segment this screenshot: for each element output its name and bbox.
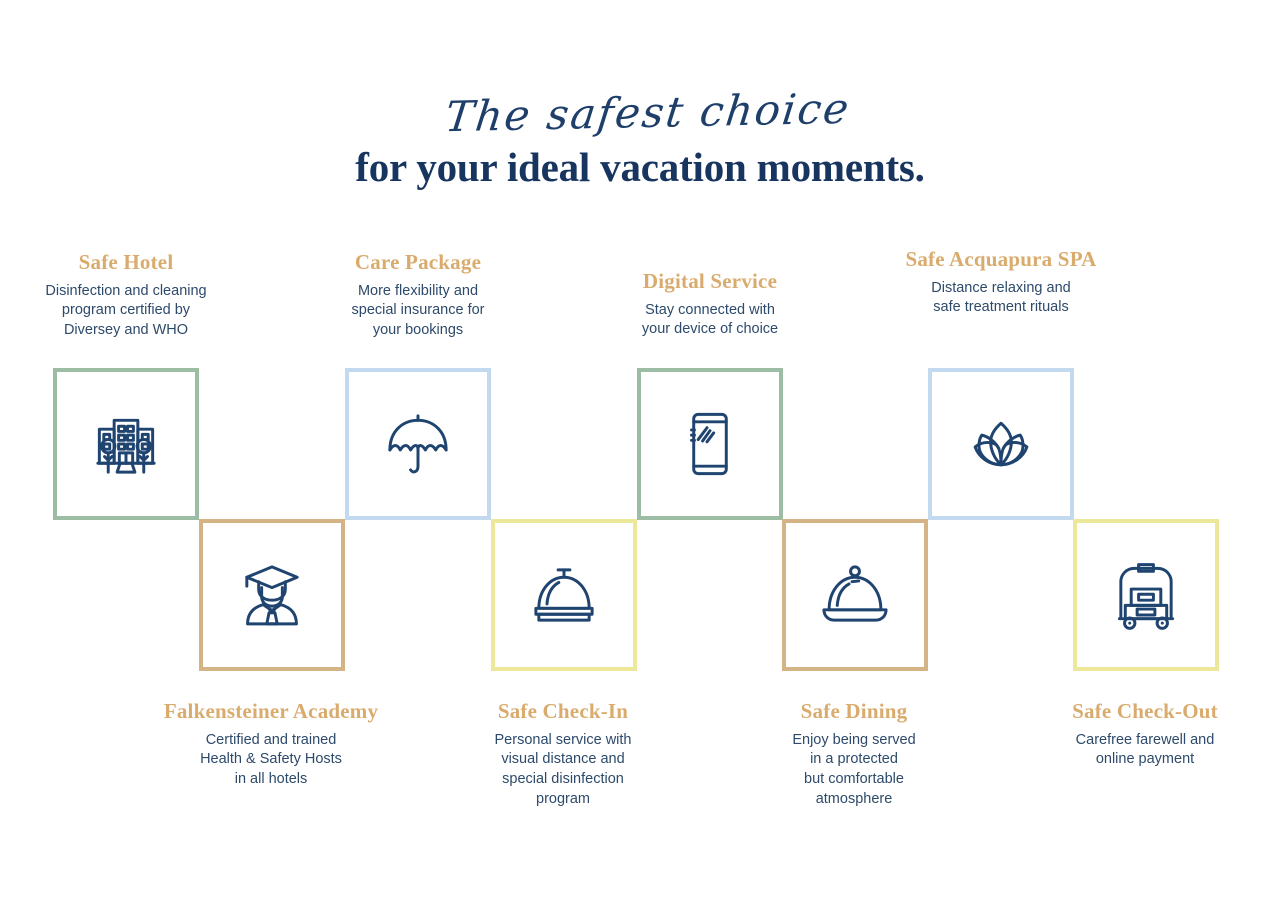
icon-box-safe-check-out: [1073, 519, 1219, 671]
card-heading: Care Package: [297, 250, 539, 275]
card-text-care-package: Care Package More flexibility and specia…: [297, 250, 539, 341]
luggage-cart-icon: [1109, 558, 1183, 632]
icon-box-care-package: [345, 368, 491, 520]
card-text-safe-acquapura-spa: Safe Acquapura SPA Distance relaxing and…: [880, 247, 1122, 318]
hotel-building-icon: [89, 407, 163, 481]
umbrella-icon: [381, 407, 455, 481]
card-description: Distance relaxing and safe treatment rit…: [880, 279, 1122, 318]
icon-box-safe-hotel: [53, 368, 199, 520]
food-cloche-icon: [818, 558, 892, 632]
card-text-digital-service: Digital Service Stay connected with your…: [589, 269, 831, 340]
card-heading: Safe Acquapura SPA: [880, 247, 1122, 272]
smartphone-sparkle-icon: [673, 407, 747, 481]
icon-box-falkensteiner-academy: [199, 519, 345, 671]
card-text-safe-check-out: Safe Check-Out Carefree farewell and onl…: [1024, 699, 1266, 770]
icon-box-digital-service: [637, 368, 783, 520]
card-text-safe-hotel: Safe Hotel Disinfection and cleaning pro…: [5, 250, 247, 341]
card-heading: Safe Dining: [733, 699, 975, 724]
card-heading: Safe Check-In: [442, 699, 684, 724]
title-serif-line: for your ideal vacation moments.: [0, 146, 1280, 189]
card-description: More flexibility and special insurance f…: [297, 282, 539, 341]
icon-box-safe-check-in: [491, 519, 637, 671]
card-heading: Safe Hotel: [5, 250, 247, 275]
reception-bell-icon: [527, 558, 601, 632]
card-description: Certified and trained Health & Safety Ho…: [150, 731, 392, 790]
lotus-flower-icon: [964, 407, 1038, 481]
card-heading: Safe Check-Out: [1024, 699, 1266, 724]
card-description: Carefree farewell and online payment: [1024, 731, 1266, 770]
card-text-falkensteiner-academy: Falkensteiner Academy Certified and trai…: [150, 699, 392, 790]
card-heading: Digital Service: [589, 269, 831, 294]
card-description: Stay connected with your device of choic…: [589, 301, 831, 340]
icon-box-safe-dining: [782, 519, 928, 671]
title-script-line: The safest choice: [443, 88, 853, 138]
graduate-icon: [235, 558, 309, 632]
card-text-safe-check-in: Safe Check-In Personal service with visu…: [442, 699, 684, 810]
card-description: Disinfection and cleaning program certif…: [5, 282, 247, 341]
card-description: Personal service with visual distance an…: [442, 731, 684, 810]
card-description: Enjoy being served in a protected but co…: [733, 731, 975, 810]
page-title: The safest choice for your ideal vacatio…: [0, 92, 1280, 189]
card-heading: Falkensteiner Academy: [150, 699, 392, 724]
card-text-safe-dining: Safe Dining Enjoy being served in a prot…: [733, 699, 975, 810]
icon-box-safe-acquapura-spa: [928, 368, 1074, 520]
